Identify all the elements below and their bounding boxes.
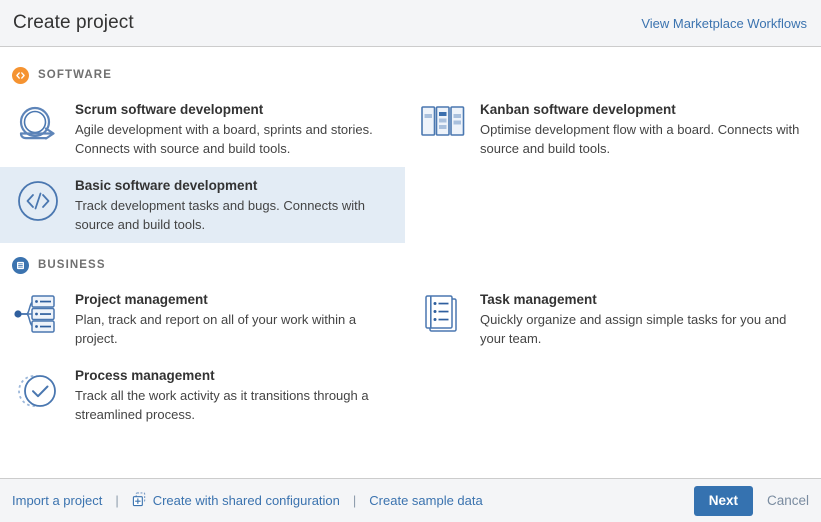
template-description: Agile development with a board, sprints …	[75, 120, 395, 158]
template-text-kanban: Kanban software development Optimise dev…	[469, 100, 800, 158]
template-title: Basic software development	[75, 177, 395, 194]
template-card-kanban[interactable]: Kanban software development Optimise dev…	[405, 91, 810, 167]
create-with-shared-configuration-label: Create with shared configuration	[153, 493, 340, 508]
template-card-basic[interactable]: Basic software development Track develop…	[0, 167, 405, 243]
section-label-software: SOFTWARE	[38, 69, 112, 81]
sprint-loop-icon	[12, 100, 64, 152]
dialog-footer: Import a project | Create with shared co…	[0, 478, 821, 522]
template-title: Scrum software development	[75, 101, 395, 118]
section-header-business: BUSINESS	[0, 255, 821, 275]
footer-separator-1: |	[106, 493, 127, 508]
footer-links: Import a project | Create with shared co…	[8, 492, 487, 510]
project-branch-icon	[12, 290, 64, 342]
footer-actions: Next Cancel	[694, 486, 809, 516]
copy-add-icon	[132, 492, 147, 510]
kanban-board-icon	[417, 100, 469, 152]
template-text-scrum: Scrum software development Agile develop…	[64, 100, 395, 158]
document-lines-icon	[12, 257, 29, 274]
create-project-dialog: Create project View Marketplace Workflow…	[0, 0, 821, 522]
code-brackets-icon	[12, 67, 29, 84]
business-template-cards: Project management Plan, track and repor…	[0, 281, 821, 433]
create-sample-data-link[interactable]: Create sample data	[365, 493, 486, 508]
code-circle-icon	[12, 176, 64, 228]
template-title: Process management	[75, 367, 395, 384]
template-description: Quickly organize and assign simple tasks…	[480, 310, 800, 348]
cancel-button[interactable]: Cancel	[767, 493, 809, 508]
software-template-cards: Scrum software development Agile develop…	[0, 91, 821, 243]
template-description: Optimise development flow with a board. …	[480, 120, 800, 158]
template-title: Task management	[480, 291, 800, 308]
template-text-basic: Basic software development Track develop…	[64, 176, 395, 234]
dialog-header: Create project View Marketplace Workflow…	[0, 0, 821, 47]
next-button[interactable]: Next	[694, 486, 753, 516]
template-card-scrum[interactable]: Scrum software development Agile develop…	[0, 91, 405, 167]
template-description: Track development tasks and bugs. Connec…	[75, 196, 395, 234]
section-header-software: SOFTWARE	[0, 65, 821, 85]
check-circle-icon	[12, 366, 64, 418]
template-text-process-management: Process management Track all the work ac…	[64, 366, 395, 424]
project-template-list: SOFTWARE Scrum software development Agil	[0, 47, 821, 478]
template-title: Project management	[75, 291, 395, 308]
import-a-project-link[interactable]: Import a project	[8, 493, 106, 508]
task-list-icon	[417, 290, 469, 342]
view-marketplace-workflows-link[interactable]: View Marketplace Workflows	[641, 16, 807, 31]
template-description: Track all the work activity as it transi…	[75, 386, 395, 424]
template-title: Kanban software development	[480, 101, 800, 118]
section-label-business: BUSINESS	[38, 259, 106, 271]
footer-separator-2: |	[344, 493, 365, 508]
template-card-task-management[interactable]: Task management Quickly organize and ass…	[405, 281, 810, 357]
template-text-project-management: Project management Plan, track and repor…	[64, 290, 395, 348]
template-description: Plan, track and report on all of your wo…	[75, 310, 395, 348]
page-title: Create project	[13, 12, 134, 34]
template-text-task-management: Task management Quickly organize and ass…	[469, 290, 800, 348]
create-with-shared-configuration-link[interactable]: Create with shared configuration	[128, 492, 344, 510]
template-card-process-management[interactable]: Process management Track all the work ac…	[0, 357, 405, 433]
template-card-project-management[interactable]: Project management Plan, track and repor…	[0, 281, 405, 357]
